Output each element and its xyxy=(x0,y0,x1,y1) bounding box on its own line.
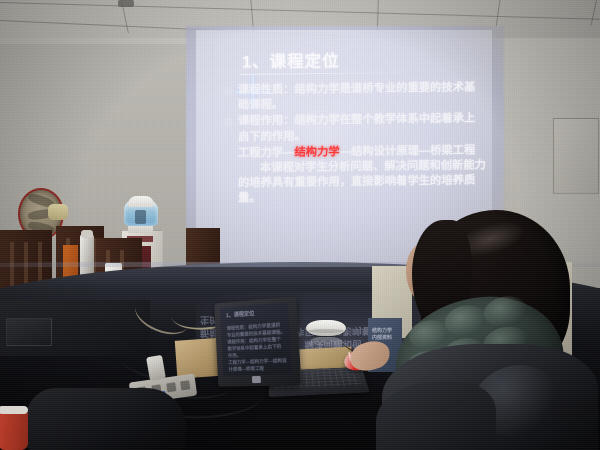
jacket-arm xyxy=(376,382,496,450)
slide-bullet: 课程作用：结构力学在整个教学体系中起着承上启下的作用。 xyxy=(224,112,486,146)
fan-motor xyxy=(48,204,68,220)
dark-bag xyxy=(26,388,186,450)
slide-title-underline xyxy=(240,72,406,75)
square-bullet-icon xyxy=(226,89,231,94)
ceiling-fixture xyxy=(118,0,134,7)
slide-title: 1、课程定位 xyxy=(242,47,340,72)
mug-rim xyxy=(0,406,28,414)
laptop-screen-content: 1、课程定位 课程性质：结构力学是道桥 专业的重要的技术基础课程。 课程作用：结… xyxy=(226,309,288,373)
presentation-room-photo: 1、课程定位 课程性质：结构力学是道桥专业的重要的技术基础课程。 课程作用：结构… xyxy=(0,0,600,450)
conference-microphone[interactable] xyxy=(306,320,346,342)
slide-body: 课程性质：结构力学是道桥专业的重要的技术基础课程。 课程作用：结构力学在整个教学… xyxy=(224,80,486,207)
laptop-brand-logo xyxy=(252,376,261,383)
slide-bullet-text: 课程性质：结构力学是道桥专业的重要的技术基础课程。 xyxy=(238,82,475,112)
ceiling-grid-line xyxy=(496,0,501,26)
slide-bullet-text: 课程作用：结构力学在整个教学体系中起着承上启下的作用。 xyxy=(238,113,475,143)
ceiling-grid-line xyxy=(0,2,600,20)
book-title-line: 结构力学 xyxy=(372,328,398,335)
square-bullet-icon xyxy=(226,120,231,125)
laptop-screen: 1、课程定位 课程性质：结构力学是道桥 专业的重要的技术基础课程。 课程作用：结… xyxy=(220,302,292,376)
microphone-band xyxy=(308,329,344,333)
chain-after: —结构设计原理—桥梁工程 xyxy=(340,144,476,158)
book-cover-text: 结构力学 内部资料 xyxy=(372,328,398,342)
thermos-cap xyxy=(81,230,93,238)
red-mug xyxy=(0,410,28,450)
microphone-body xyxy=(306,320,346,336)
seated-woman: 结构力学 内部资料 xyxy=(376,206,600,450)
ceiling-grid-line xyxy=(591,0,597,26)
microphone-reflection xyxy=(309,337,343,349)
chain-before: 工程力学— xyxy=(238,147,295,160)
chain-highlight: 结构力学 xyxy=(295,146,340,159)
laptop[interactable]: 1、课程定位 课程性质：结构力学是道桥 专业的重要的技术基础课程。 课程作用：结… xyxy=(214,300,364,404)
av-equipment-box xyxy=(6,318,52,346)
fur-tuft xyxy=(442,302,489,339)
laptop-lid: 1、课程定位 课程性质：结构力学是道桥 专业的重要的技术基础课程。 课程作用：结… xyxy=(214,296,301,386)
slide-paragraph: 本课程对学生分析问题、解决问题和创新能力的培养具有重要作用，直接影响着学生的培养… xyxy=(224,158,486,207)
dispenser-bottle-neck xyxy=(135,210,146,224)
laptop-slide-line: 计原理—桥梁工程 xyxy=(228,364,287,373)
slide-bullet: 课程性质：结构力学是道桥专业的重要的技术基础课程。 xyxy=(224,80,486,114)
dispenser-cap xyxy=(128,196,154,207)
power-socket[interactable] xyxy=(180,380,190,390)
laptop-slide-title: 1、课程定位 xyxy=(226,309,285,320)
power-socket[interactable] xyxy=(166,382,176,392)
wall-panel xyxy=(553,118,599,194)
